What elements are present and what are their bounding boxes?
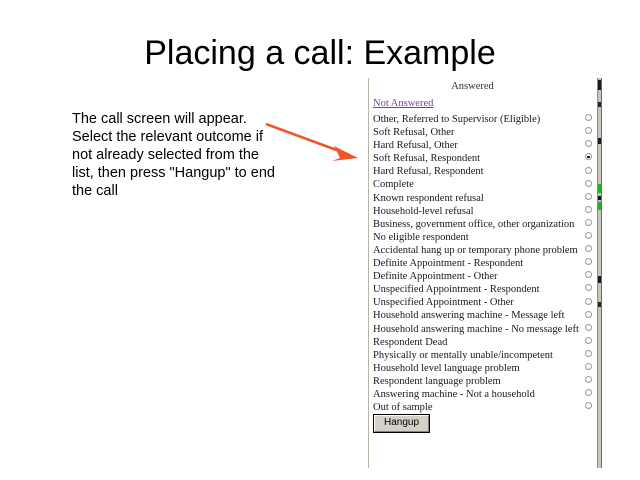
outcome-row[interactable]: Unspecified Appointment - Respondent — [372, 281, 597, 294]
scroll-mark-4 — [598, 184, 601, 193]
outcome-row[interactable]: Soft Refusal, Respondent — [372, 150, 597, 163]
outcome-row[interactable]: Hard Refusal, Respondent — [372, 163, 597, 176]
panel-scrollbar[interactable] — [597, 78, 602, 468]
scroll-mark-5 — [598, 196, 601, 200]
page-title: Placing a call: Example — [0, 34, 640, 73]
outcome-row[interactable]: Other, Referred to Supervisor (Eligible) — [372, 111, 597, 124]
outcome-row[interactable]: Hard Refusal, Other — [372, 137, 597, 150]
radio-unselected[interactable] — [585, 245, 592, 252]
outcome-row[interactable]: Complete — [372, 176, 597, 189]
outcome-row[interactable]: Respondent Dead — [372, 334, 597, 347]
answered-header: Answered — [372, 78, 597, 93]
outcome-row[interactable]: Physically or mentally unable/incompeten… — [372, 347, 597, 360]
call-screen-panel: Answered Not Answered Other, Referred to… — [368, 78, 600, 468]
outcome-row[interactable]: Definite Appointment - Other — [372, 268, 597, 281]
radio-unselected[interactable] — [585, 219, 592, 226]
radio-unselected[interactable] — [585, 311, 592, 318]
outcome-row[interactable]: Soft Refusal, Other — [372, 124, 597, 137]
outcome-row[interactable]: Respondent language problem — [372, 373, 597, 386]
pointer-arrow-icon — [262, 114, 362, 164]
scroll-mark-3 — [598, 138, 601, 144]
outcome-row[interactable]: Household-level refusal — [372, 203, 597, 216]
scroll-mark-2 — [598, 102, 601, 107]
outcome-row[interactable]: Unspecified Appointment - Other — [372, 294, 597, 307]
radio-unselected[interactable] — [585, 337, 592, 344]
radio-unselected[interactable] — [585, 127, 592, 134]
radio-unselected[interactable] — [585, 363, 592, 370]
radio-unselected[interactable] — [585, 206, 592, 213]
outcome-row[interactable]: Known respondent refusal — [372, 190, 597, 203]
radio-unselected[interactable] — [585, 180, 592, 187]
scroll-mark-7 — [598, 276, 601, 283]
scroll-mark-1 — [598, 80, 601, 90]
outcome-row[interactable]: Out of sample — [372, 399, 597, 412]
hangup-button[interactable]: Hangup — [374, 415, 429, 432]
outcome-row[interactable]: Household answering machine - No message… — [372, 321, 597, 334]
outcome-row[interactable]: Definite Appointment - Respondent — [372, 255, 597, 268]
not-answered-link[interactable]: Not Answered — [373, 97, 433, 110]
radio-unselected[interactable] — [585, 114, 592, 121]
outcome-row[interactable]: Household answering machine - Message le… — [372, 307, 597, 320]
instruction-text: The call screen will appear. Select the … — [72, 110, 280, 200]
radio-unselected[interactable] — [585, 284, 592, 291]
outcome-list: Other, Referred to Supervisor (Eligible)… — [372, 111, 597, 412]
outcome-row[interactable]: Accidental hang up or temporary phone pr… — [372, 242, 597, 255]
radio-unselected[interactable] — [585, 402, 592, 409]
scroll-mark-6 — [598, 202, 601, 210]
radio-unselected[interactable] — [585, 193, 592, 200]
scroll-mark-8 — [598, 302, 601, 307]
outcome-row[interactable]: Business, government office, other organ… — [372, 216, 597, 229]
radio-unselected[interactable] — [585, 140, 592, 147]
outcome-row[interactable]: Household level language problem — [372, 360, 597, 373]
radio-unselected[interactable] — [585, 376, 592, 383]
radio-unselected[interactable] — [585, 271, 592, 278]
radio-selected[interactable] — [585, 153, 592, 160]
radio-unselected[interactable] — [585, 258, 592, 265]
radio-unselected[interactable] — [585, 389, 592, 396]
outcome-label: Out of sample — [373, 402, 433, 413]
radio-unselected[interactable] — [585, 350, 592, 357]
radio-unselected[interactable] — [585, 324, 592, 331]
outcome-row[interactable]: No eligible respondent — [372, 229, 597, 242]
outcome-row[interactable]: Answering machine - Not a household — [372, 386, 597, 399]
radio-unselected[interactable] — [585, 232, 592, 239]
radio-unselected[interactable] — [585, 167, 592, 174]
radio-unselected[interactable] — [585, 298, 592, 305]
